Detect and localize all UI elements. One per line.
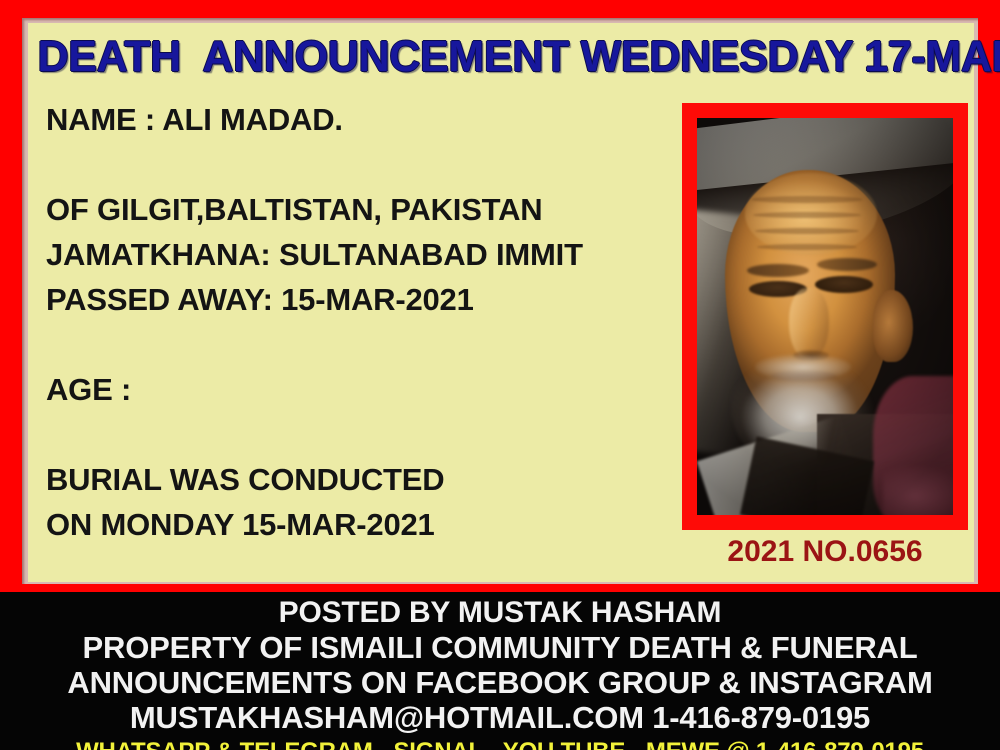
announcement-card: DEATH ANNOUNCEMENT WEDNESDAY 17-MAR-2021… [28, 23, 974, 582]
portrait-frame [682, 103, 968, 530]
footer-property-line: PROPERTY OF ISMAILI COMMUNITY DEATH & FU… [0, 630, 1000, 665]
detail-spacer-2 [46, 322, 686, 367]
footer-posted-by: POSTED BY MUSTAK HASHAM [0, 592, 1000, 630]
portrait-photo [697, 118, 953, 515]
detail-passed-away: PASSED AWAY: 15-MAR-2021 [46, 277, 686, 322]
detail-age: AGE : [46, 367, 686, 412]
detail-origin: OF GILGIT,BALTISTAN, PAKISTAN [46, 187, 686, 232]
footer-contact-line: MUSTAKHASHAM@HOTMAIL.COM 1-416-879-0195 [0, 700, 1000, 735]
detail-name: NAME : ALI MADAD. [46, 97, 686, 142]
details-block: NAME : ALI MADAD. OF GILGIT,BALTISTAN, P… [46, 97, 686, 547]
page-title: DEATH ANNOUNCEMENT WEDNESDAY 17-MAR-2021 [37, 32, 964, 82]
detail-burial-line-1: BURIAL WAS CONDUCTED [46, 457, 686, 502]
detail-burial-line-2: ON MONDAY 15-MAR-2021 [46, 502, 686, 547]
detail-jamatkhana: JAMATKHANA: SULTANABAD IMMIT [46, 232, 686, 277]
footer-social-line: WHATSAPP & TELEGRAM - SIGNAL - YOU TUBE … [0, 735, 1000, 750]
footer-bar: POSTED BY MUSTAK HASHAM PROPERTY OF ISMA… [0, 592, 1000, 750]
footer-announcements-line: ANNOUNCEMENTS ON FACEBOOK GROUP & INSTAG… [0, 665, 1000, 700]
photo-vignette [697, 118, 953, 515]
red-border-frame: DEATH ANNOUNCEMENT WEDNESDAY 17-MAR-2021… [0, 0, 1000, 592]
announcement-number: 2021 NO.0656 [682, 535, 968, 569]
detail-spacer-3 [46, 412, 686, 457]
death-announcement-poster: DEATH ANNOUNCEMENT WEDNESDAY 17-MAR-2021… [0, 0, 1000, 750]
detail-spacer-1 [46, 142, 686, 187]
